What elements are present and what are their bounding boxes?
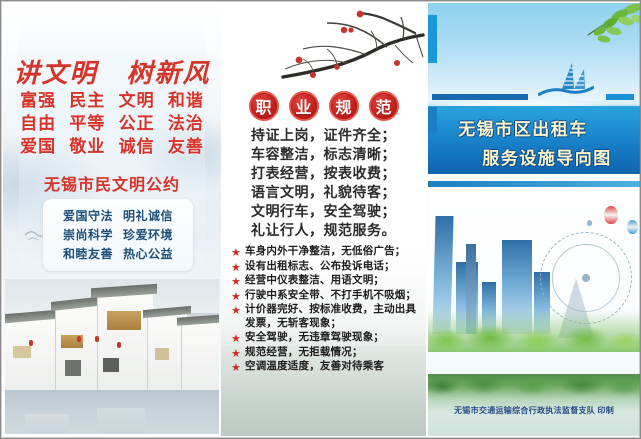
star-bullet-icon: ★ [231, 292, 241, 302]
service-standards-list: ★ 车身内外干净整洁，无低俗广告； ★ 设有出租标志、公布投诉电话； ★ 经营中… [231, 245, 423, 375]
watertown-window [107, 311, 141, 330]
seal-character: 范 [369, 91, 399, 121]
core-value-word: 公正 [119, 112, 155, 135]
core-values-row: 爱国 敬业 诚信 友善 [3, 135, 221, 158]
lake-photo-treeline [428, 374, 640, 400]
brush-title-part-a: 讲文明 [13, 59, 97, 88]
star-bullet-icon: ★ [231, 263, 241, 273]
list-item-label: 经营中仪表整洁、用语文明； [245, 274, 384, 288]
professional-norms-seal-row: 职 业 规 范 [221, 91, 426, 121]
list-item-label: 规范经营，无拒载情况； [245, 346, 363, 360]
star-bullet-icon: ★ [231, 363, 241, 373]
header-bar-left [432, 94, 528, 100]
pact-row: 崇尚科学珍爱环境 [43, 226, 193, 245]
red-lantern-icon [117, 342, 121, 348]
star-bullet-icon: ★ [231, 334, 241, 344]
hot-air-balloon-icon [604, 206, 618, 224]
plum-branch-icon [227, 5, 426, 91]
core-value-word: 文明 [119, 89, 155, 112]
watertown-photo [5, 279, 219, 434]
edge-accent-tab-top [428, 15, 437, 63]
watertown-window [155, 348, 169, 360]
norm-line: 持证上岗，证件齐全； [221, 127, 426, 146]
pact-row: 和睦友善热心公益 [43, 245, 193, 264]
poster-root: 讲文明 树新风 富强 民主 文明 和谐 自由 平等 公正 法治 爱国 敬业 诚信… [0, 0, 641, 439]
hot-air-balloon-icon [627, 220, 638, 234]
middle-panel: 职 业 规 范 持证上岗，证件齐全； 车容整洁，标志清晰； 打表经营，按表收费；… [221, 3, 426, 436]
core-value-word: 诚信 [119, 135, 155, 158]
pact-word: 崇尚科学 [63, 226, 113, 245]
cityscape-illustration [428, 196, 640, 386]
core-values-row: 自由 平等 公正 法治 [3, 112, 221, 135]
divider-strip-white [428, 174, 640, 181]
red-lantern-icon [29, 340, 33, 346]
core-value-word: 平等 [69, 112, 105, 135]
list-item-label: 计价器完好、按标准收费，主动出具发票，无斩客现象； [245, 303, 423, 330]
star-bullet-icon: ★ [231, 277, 241, 287]
core-value-word: 自由 [20, 112, 56, 135]
list-item: ★ 计价器完好、按标准收费，主动出具发票，无斩客现象； [231, 303, 423, 330]
pact-word: 爱国守法 [63, 207, 113, 226]
list-item-label: 安全驾驶，无违章驾驶现象； [245, 331, 384, 345]
red-lantern-icon [95, 336, 99, 342]
red-lantern-icon [77, 336, 81, 342]
publisher-credit: 无锡市交通运输综合行政执法监督支队 印制 [428, 405, 640, 416]
core-value-word: 爱国 [20, 135, 56, 158]
list-item: ★ 规范经营，无拒载情况； [231, 346, 423, 360]
seal-character: 业 [289, 91, 319, 121]
watertown-house [181, 322, 219, 392]
list-item: ★ 空调温度适度，友善对待乘客 [231, 360, 423, 374]
left-panel: 讲文明 树新风 富强 民主 文明 和谐 自由 平等 公正 法治 爱国 敬业 诚信… [3, 3, 221, 436]
brush-calligraphy-title: 讲文明 树新风 [3, 53, 221, 90]
list-item: ★ 安全驾驶，无违章驾驶现象； [231, 331, 423, 345]
watertown-house [55, 306, 103, 392]
core-value-word: 敬业 [69, 135, 105, 158]
list-item-label: 空调温度适度，友善对待乘客 [245, 360, 384, 374]
page-title-line1: 无锡市区出租车 [428, 115, 640, 140]
core-value-word: 和谐 [168, 89, 204, 112]
citizen-pact-box: 爱国守法明礼诚信 崇尚科学珍爱环境 和睦友善热心公益 [43, 199, 193, 271]
watertown-house [97, 294, 153, 392]
star-bullet-icon: ★ [231, 306, 241, 316]
norm-line: 文明行车，安全驾驶； [221, 203, 426, 222]
hot-air-balloon-icon-small [587, 220, 592, 226]
core-value-word: 民主 [69, 89, 105, 112]
seal-character: 规 [329, 91, 359, 121]
list-item-label: 设有出租标志、公布投诉电话； [245, 260, 395, 274]
edge-accent-tab-mid [428, 107, 437, 133]
norm-line: 打表经营，按表收费； [221, 165, 426, 184]
norm-lines-block: 持证上岗，证件齐全； 车容整洁，标志清晰； 打表经营，按表收费； 语言文明，礼貌… [221, 127, 426, 241]
norm-line: 车容整洁，标志清晰； [221, 146, 426, 165]
list-item-label: 车身内外干净整洁，无低俗广告； [245, 245, 406, 259]
list-item: ★ 车身内外干净整洁，无低俗广告； [231, 245, 423, 259]
pact-word: 珍爱环境 [123, 226, 173, 245]
tree-line [428, 310, 640, 352]
divider-strip-white-2 [428, 187, 640, 196]
core-value-word: 友善 [168, 135, 204, 158]
citizen-pact-title: 无锡市民文明公约 [3, 171, 221, 195]
norm-line: 礼让行人，规范服务。 [221, 222, 426, 241]
core-value-word: 法治 [168, 112, 204, 135]
pact-word: 热心公益 [123, 245, 173, 264]
seal-character: 职 [249, 91, 279, 121]
watertown-window [103, 358, 119, 372]
leaf-branch-icon [558, 3, 640, 55]
list-item: ★ 经营中仪表整洁、用语文明； [231, 274, 423, 288]
list-item: ★ 行驶中系安全带、不打手机不吸烟； [231, 289, 423, 303]
brush-title-part-b: 树新风 [127, 59, 211, 88]
pact-word: 明礼诚信 [123, 207, 173, 226]
pact-row: 爱国守法明礼诚信 [43, 207, 193, 226]
list-item-label: 行驶中系安全带、不打手机不吸烟； [245, 289, 416, 303]
star-bullet-icon: ★ [231, 349, 241, 359]
page-title: 无锡市区出租车 服务设施导向图 [428, 115, 640, 169]
watertown-window [65, 360, 81, 376]
list-item: ★ 设有出租标志、公布投诉电话； [231, 260, 423, 274]
star-bullet-icon: ★ [231, 248, 241, 258]
pact-word: 和睦友善 [63, 245, 113, 264]
right-panel: 无锡市区出租车 服务设施导向图 [428, 3, 640, 436]
core-values-row: 富强 民主 文明 和谐 [3, 89, 221, 112]
core-value-word: 富强 [20, 89, 56, 112]
core-socialist-values: 富强 民主 文明 和谐 自由 平等 公正 法治 爱国 敬业 诚信 友善 [3, 89, 221, 158]
page-title-line2: 服务设施导向图 [428, 144, 640, 169]
norm-line: 语言文明，礼貌待客； [221, 184, 426, 203]
water-reflection [25, 414, 69, 434]
watertown-window [13, 346, 31, 358]
water-reflection [97, 408, 145, 434]
right-panel-header: 无锡市区出租车 服务设施导向图 [428, 3, 640, 196]
header-bar-right [606, 94, 634, 100]
